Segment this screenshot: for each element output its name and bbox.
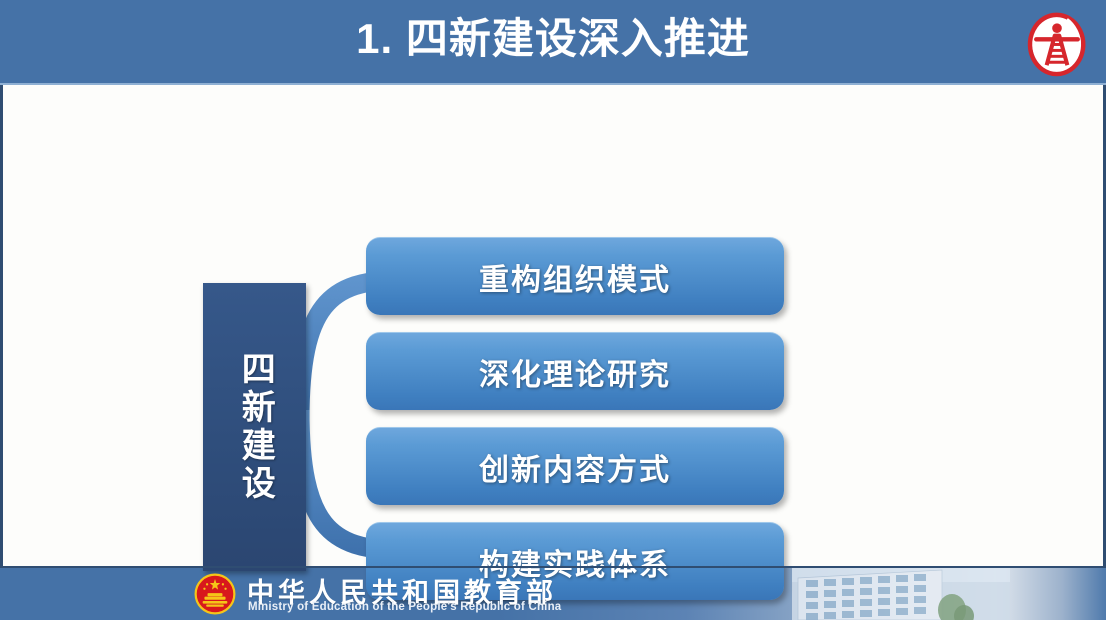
diagram-node-2[interactable]: 深化理论研究	[366, 332, 784, 410]
slide-left-border	[0, 85, 3, 568]
diagram-root-label: 四新建设	[234, 351, 275, 503]
diagram-root-node[interactable]: 四新建设	[203, 283, 306, 571]
footer-organization-en: Ministry of Education of the People's Re…	[248, 601, 561, 613]
diagram-node-3[interactable]: 创新内容方式	[366, 427, 784, 505]
page-title: 1. 四新建设深入推进	[0, 0, 1106, 82]
government-building-photo	[792, 568, 1010, 620]
slide-canvas: 1. 四新建设深入推进	[0, 0, 1106, 620]
diagram-node-label: 创新内容方式	[479, 445, 671, 489]
diagram-node-label: 重构组织模式	[479, 255, 671, 299]
diagram-node-label: 深化理论研究	[479, 350, 671, 394]
china-national-emblem-icon	[193, 572, 237, 616]
slide-header: 1. 四新建设深入推进	[0, 0, 1106, 85]
red-tower-circle-emblem-icon	[1020, 6, 1094, 80]
footer-divider	[0, 566, 1106, 568]
diagram-node-1[interactable]: 重构组织模式	[366, 237, 784, 315]
slide-body: 四新建设 重构组织模式 深化理论研究 创新内容方式 构建实践体系	[0, 85, 1106, 568]
